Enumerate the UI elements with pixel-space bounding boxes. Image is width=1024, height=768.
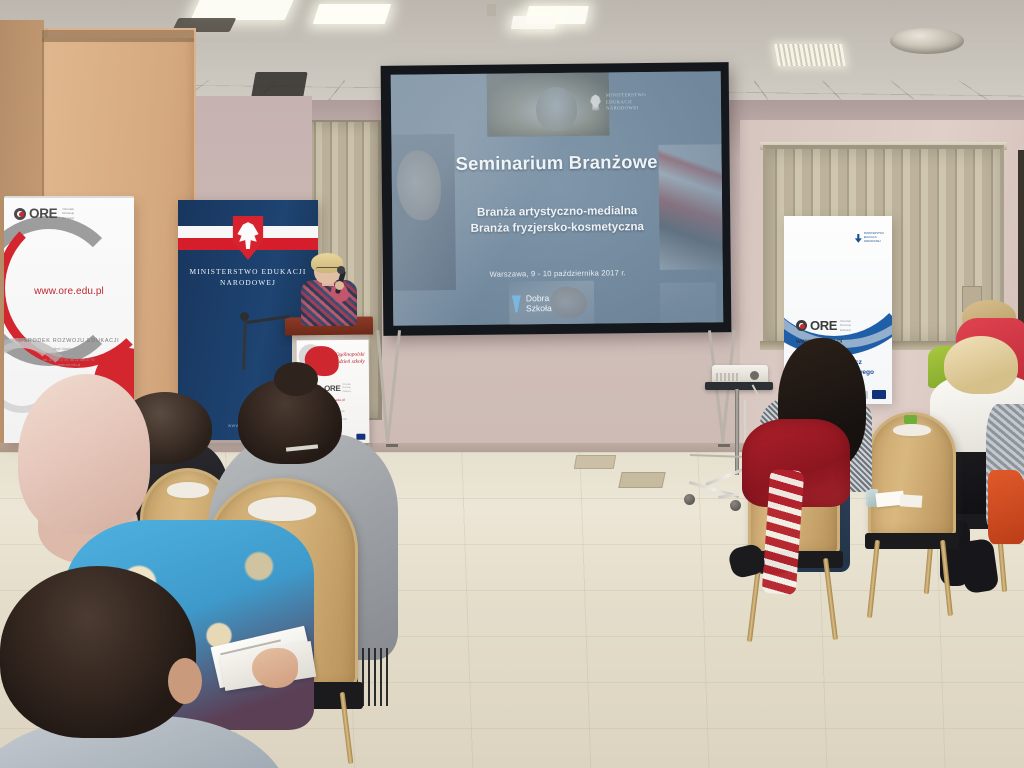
projector-vent <box>716 373 740 381</box>
papers-on-chair <box>900 494 923 508</box>
ore-logo-tagline: Ośrodek Rozwoju Edukacji <box>62 207 74 221</box>
chair-tag <box>904 415 917 424</box>
slide-program-logo: Dobra Szkoła <box>512 293 552 314</box>
floor-vent <box>574 455 616 469</box>
slide-title: Seminarium Branżowe <box>392 150 722 175</box>
sprinkler-head-icon <box>487 4 496 16</box>
slide-program-logo-text: Dobra Szkoła <box>526 293 552 314</box>
projector-cart-pole <box>735 389 739 475</box>
ceiling-light-panel <box>191 0 296 20</box>
ministry-caption-line-2: NARODOWEJ <box>178 277 318 288</box>
ministry-line-3: NARODOWEJ <box>606 105 646 112</box>
audience-hair <box>18 374 150 534</box>
ministry-caption-line-1: MINISTERSTWO EDUKACJI <box>178 266 318 277</box>
glasses-icon <box>316 267 339 272</box>
ore-logo: ORE Ośrodek Rozwoju Edukacji <box>14 206 74 221</box>
projector-cart-top <box>705 382 773 390</box>
presenter-hand <box>335 281 344 290</box>
banner-address: Aleje Ujazdowskie 28 00-478 Warszawa tel… <box>4 347 134 368</box>
doorway-edge <box>1018 150 1024 340</box>
ore-logo-text: ORE <box>810 318 837 333</box>
slide-text-layer: MINISTERSTWO EDUKACJI NARODOWEJ Seminari… <box>391 71 724 325</box>
slide-subtitle-line-2: Branża fryzjersko-kosmetyczna <box>392 218 722 238</box>
polish-eagle-icon <box>589 94 602 110</box>
conference-room-photo: MINISTERSTWO EDUKACJI NARODOWEJ Seminari… <box>0 0 1024 768</box>
ceiling-light-panel <box>313 4 391 24</box>
audience-hair <box>0 566 196 738</box>
cart-caster <box>730 500 741 511</box>
ceiling-light-panel <box>774 44 846 66</box>
dobra-szkola-mark-icon <box>512 295 521 312</box>
slide-subtitle: Branża artystyczno-medialna Branża fryzj… <box>392 202 722 238</box>
banner-address-block: OŚRODEK ROZWOJU EDUKACJI Aleje Ujazdowsk… <box>4 338 134 368</box>
cart-caster <box>684 494 695 505</box>
chair <box>868 412 956 538</box>
ore-logo-dot-icon <box>796 320 807 331</box>
presenter-at-podium <box>298 256 360 322</box>
orange-bag <box>988 470 1024 544</box>
chair-handle-slot <box>891 422 933 438</box>
ceiling-light-panel <box>511 16 557 29</box>
presenter-jacket <box>301 280 357 326</box>
projection-screen: MINISTERSTWO EDUKACJI NARODOWEJ Seminari… <box>381 62 732 336</box>
audience-hair <box>944 336 1018 394</box>
hair-bun <box>274 362 318 396</box>
chair-handle-slot <box>246 495 319 523</box>
screen-foot <box>718 444 730 447</box>
banner-url: www.ore.edu.pl <box>4 286 134 297</box>
polish-eagle-crest-icon <box>230 216 266 260</box>
ore-logo-tagline: Ośrodek Rozwoju Edukacji <box>840 319 851 333</box>
microphone-stand-head <box>240 312 249 321</box>
ministry-arrow-icon <box>855 234 862 243</box>
ore-logo-dot-icon <box>14 208 26 220</box>
chair-handle-slot <box>165 480 211 500</box>
banner-ministry-caption: MINISTERSTWO EDUKACJI NARODOWEJ <box>178 266 318 289</box>
screen-frame: MINISTERSTWO EDUKACJI NARODOWEJ Seminari… <box>381 62 732 336</box>
banner-ministry-logo: MINISTERSTWO EDUKACJI NARODOWEJ <box>855 232 884 244</box>
audience-leg <box>959 538 1000 594</box>
ore-logo-text: ORE <box>29 206 57 221</box>
presentation-slide: MINISTERSTWO EDUKACJI NARODOWEJ Seminari… <box>391 71 724 325</box>
slide-date: Warszawa, 9 - 10 października 2017 r. <box>393 267 723 279</box>
ceiling-speaker-icon <box>890 28 964 54</box>
ministry-line-3: NARODOWEJ <box>864 240 884 244</box>
banner-ministry-logo-text: MINISTERSTWO EDUKACJI NARODOWEJ <box>864 232 884 244</box>
partition-top-rail <box>42 30 194 42</box>
ministry-line-1: MINISTERSTWO <box>606 92 646 99</box>
projector-lens <box>750 371 759 380</box>
slide-ministry-logo: MINISTERSTWO EDUKACJI NARODOWEJ <box>589 92 646 112</box>
program-line-2: Szkoła <box>526 304 552 315</box>
program-line-1: Dobra <box>526 293 552 304</box>
audience-ear <box>168 658 202 704</box>
ore-logo: ORE Ośrodek Rozwoju Edukacji <box>796 318 851 333</box>
audience-person-foreground-man <box>0 566 300 768</box>
slide-ministry-logo-text: MINISTERSTWO EDUKACJI NARODOWEJ <box>606 92 646 112</box>
microphone-capsule <box>337 266 345 274</box>
screen-surface: MINISTERSTWO EDUKACJI NARODOWEJ Seminari… <box>391 71 724 325</box>
banner-org-name: OŚRODEK ROZWOJU EDUKACJI <box>4 338 134 344</box>
floor-vent <box>618 472 665 488</box>
